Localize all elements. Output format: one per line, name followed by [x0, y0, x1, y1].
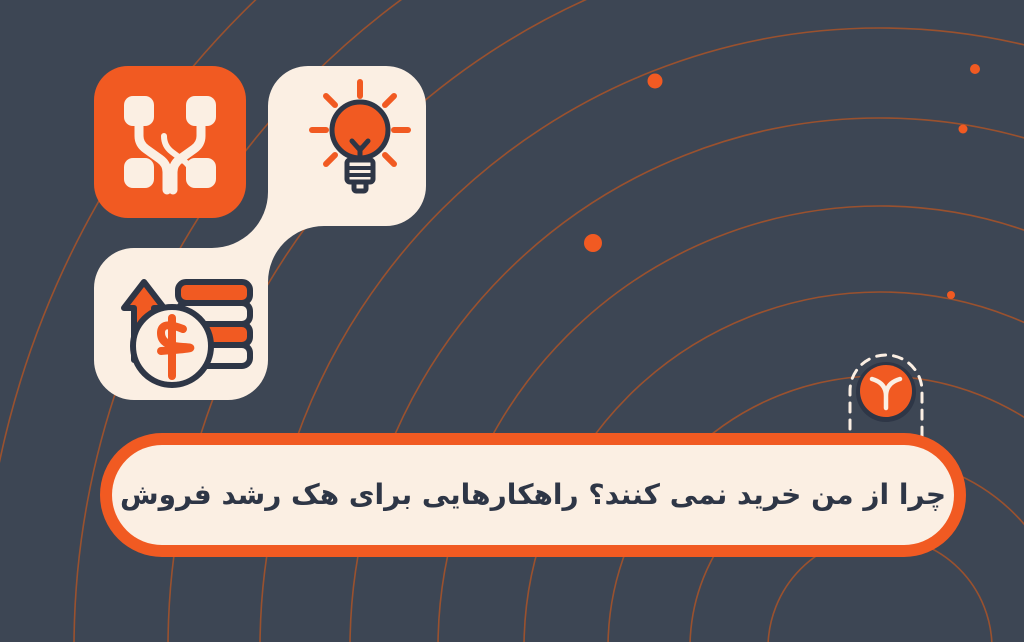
decor-dot: [648, 74, 663, 89]
headline-banner: چرا از من خرید نمی کنند؟ راهکارهایی برای…: [100, 433, 966, 557]
icon-card-cluster: [86, 58, 426, 408]
decor-dot: [584, 234, 602, 252]
decor-dot: [970, 64, 980, 74]
banner-canvas: چرا از من خرید نمی کنند؟ راهکارهایی برای…: [0, 0, 1024, 642]
headline-banner-inner: چرا از من خرید نمی کنند؟ راهکارهایی برای…: [112, 445, 954, 545]
decor-dot: [959, 125, 968, 134]
decor-ring: [438, 206, 1024, 642]
logo-tile-background: [94, 66, 246, 218]
page-title: چرا از من خرید نمی کنند؟ راهکارهایی برای…: [120, 480, 946, 509]
decor-dot: [947, 291, 955, 299]
